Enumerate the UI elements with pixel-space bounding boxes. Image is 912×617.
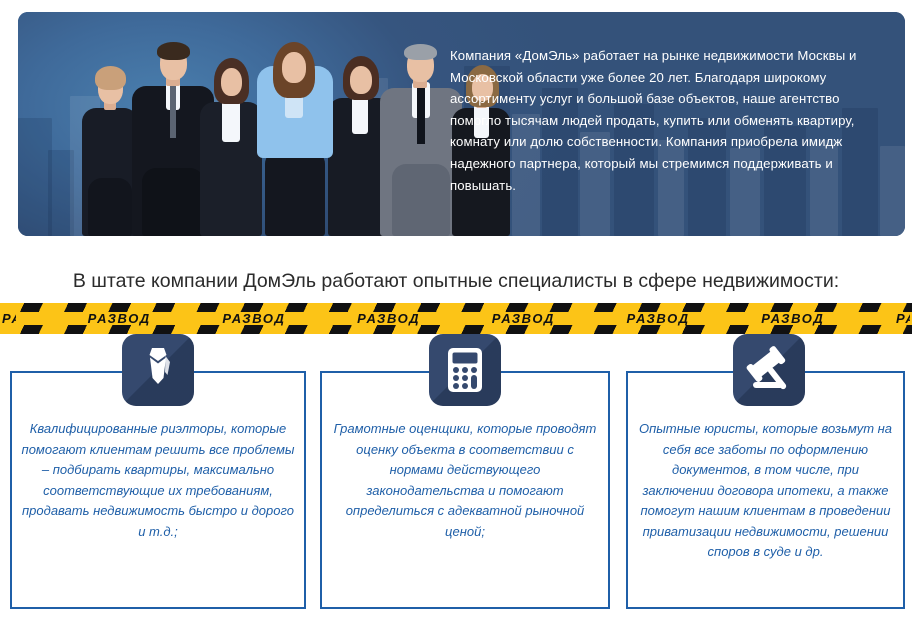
tape-word: РАЗВОД — [492, 311, 555, 326]
card-top-border — [10, 371, 122, 373]
tape-word: РАЗВОД — [222, 311, 285, 326]
tape-word-row: РАЗВОД РАЗВОД РАЗВОД РАЗВОД РАЗВОД РАЗВО… — [0, 303, 912, 334]
tape-word: РАЗВОД — [2, 311, 16, 326]
tape-word: РАЗВОД — [357, 311, 420, 326]
warning-tape-banner: РАЗВОД РАЗВОД РАЗВОД РАЗВОД РАЗВОД РАЗВО… — [0, 303, 912, 334]
card-description: Грамотные оценщики, которые проводят оце… — [330, 419, 600, 542]
page-title: В штате компании ДомЭль работают опытные… — [0, 270, 912, 293]
company-intro-banner: Компания «ДомЭль» работает на рынке недв… — [18, 12, 905, 236]
necktie-icon — [122, 334, 194, 406]
card-description: Опытные юристы, которые возьмут на себя … — [636, 419, 895, 563]
specialist-card-appraisers: Грамотные оценщики, которые проводят оце… — [320, 371, 610, 609]
tape-word: РАЗВОД — [761, 311, 824, 326]
banner-paragraph: Компания «ДомЭль» работает на рынке недв… — [450, 45, 888, 196]
gavel-icon — [733, 334, 805, 406]
specialist-cards: Квалифицированные риэлторы, которые помо… — [0, 334, 912, 617]
card-description: Квалифицированные риэлторы, которые помо… — [20, 419, 296, 542]
card-top-border — [805, 371, 905, 373]
specialist-card-realtors: Квалифицированные риэлторы, которые помо… — [10, 371, 306, 609]
card-top-border — [320, 371, 429, 373]
calculator-icon — [429, 334, 501, 406]
card-top-border — [501, 371, 610, 373]
tape-word: РАЗВОД — [627, 311, 690, 326]
specialist-card-lawyers: Опытные юристы, которые возьмут на себя … — [626, 371, 905, 609]
tape-word: РАЗВОД — [88, 311, 151, 326]
card-top-border — [626, 371, 733, 373]
page-root: Компания «ДомЭль» работает на рынке недв… — [0, 0, 912, 617]
team-photo — [78, 21, 478, 236]
tape-word: РАЗВОД — [896, 311, 910, 326]
card-top-border — [194, 371, 306, 373]
